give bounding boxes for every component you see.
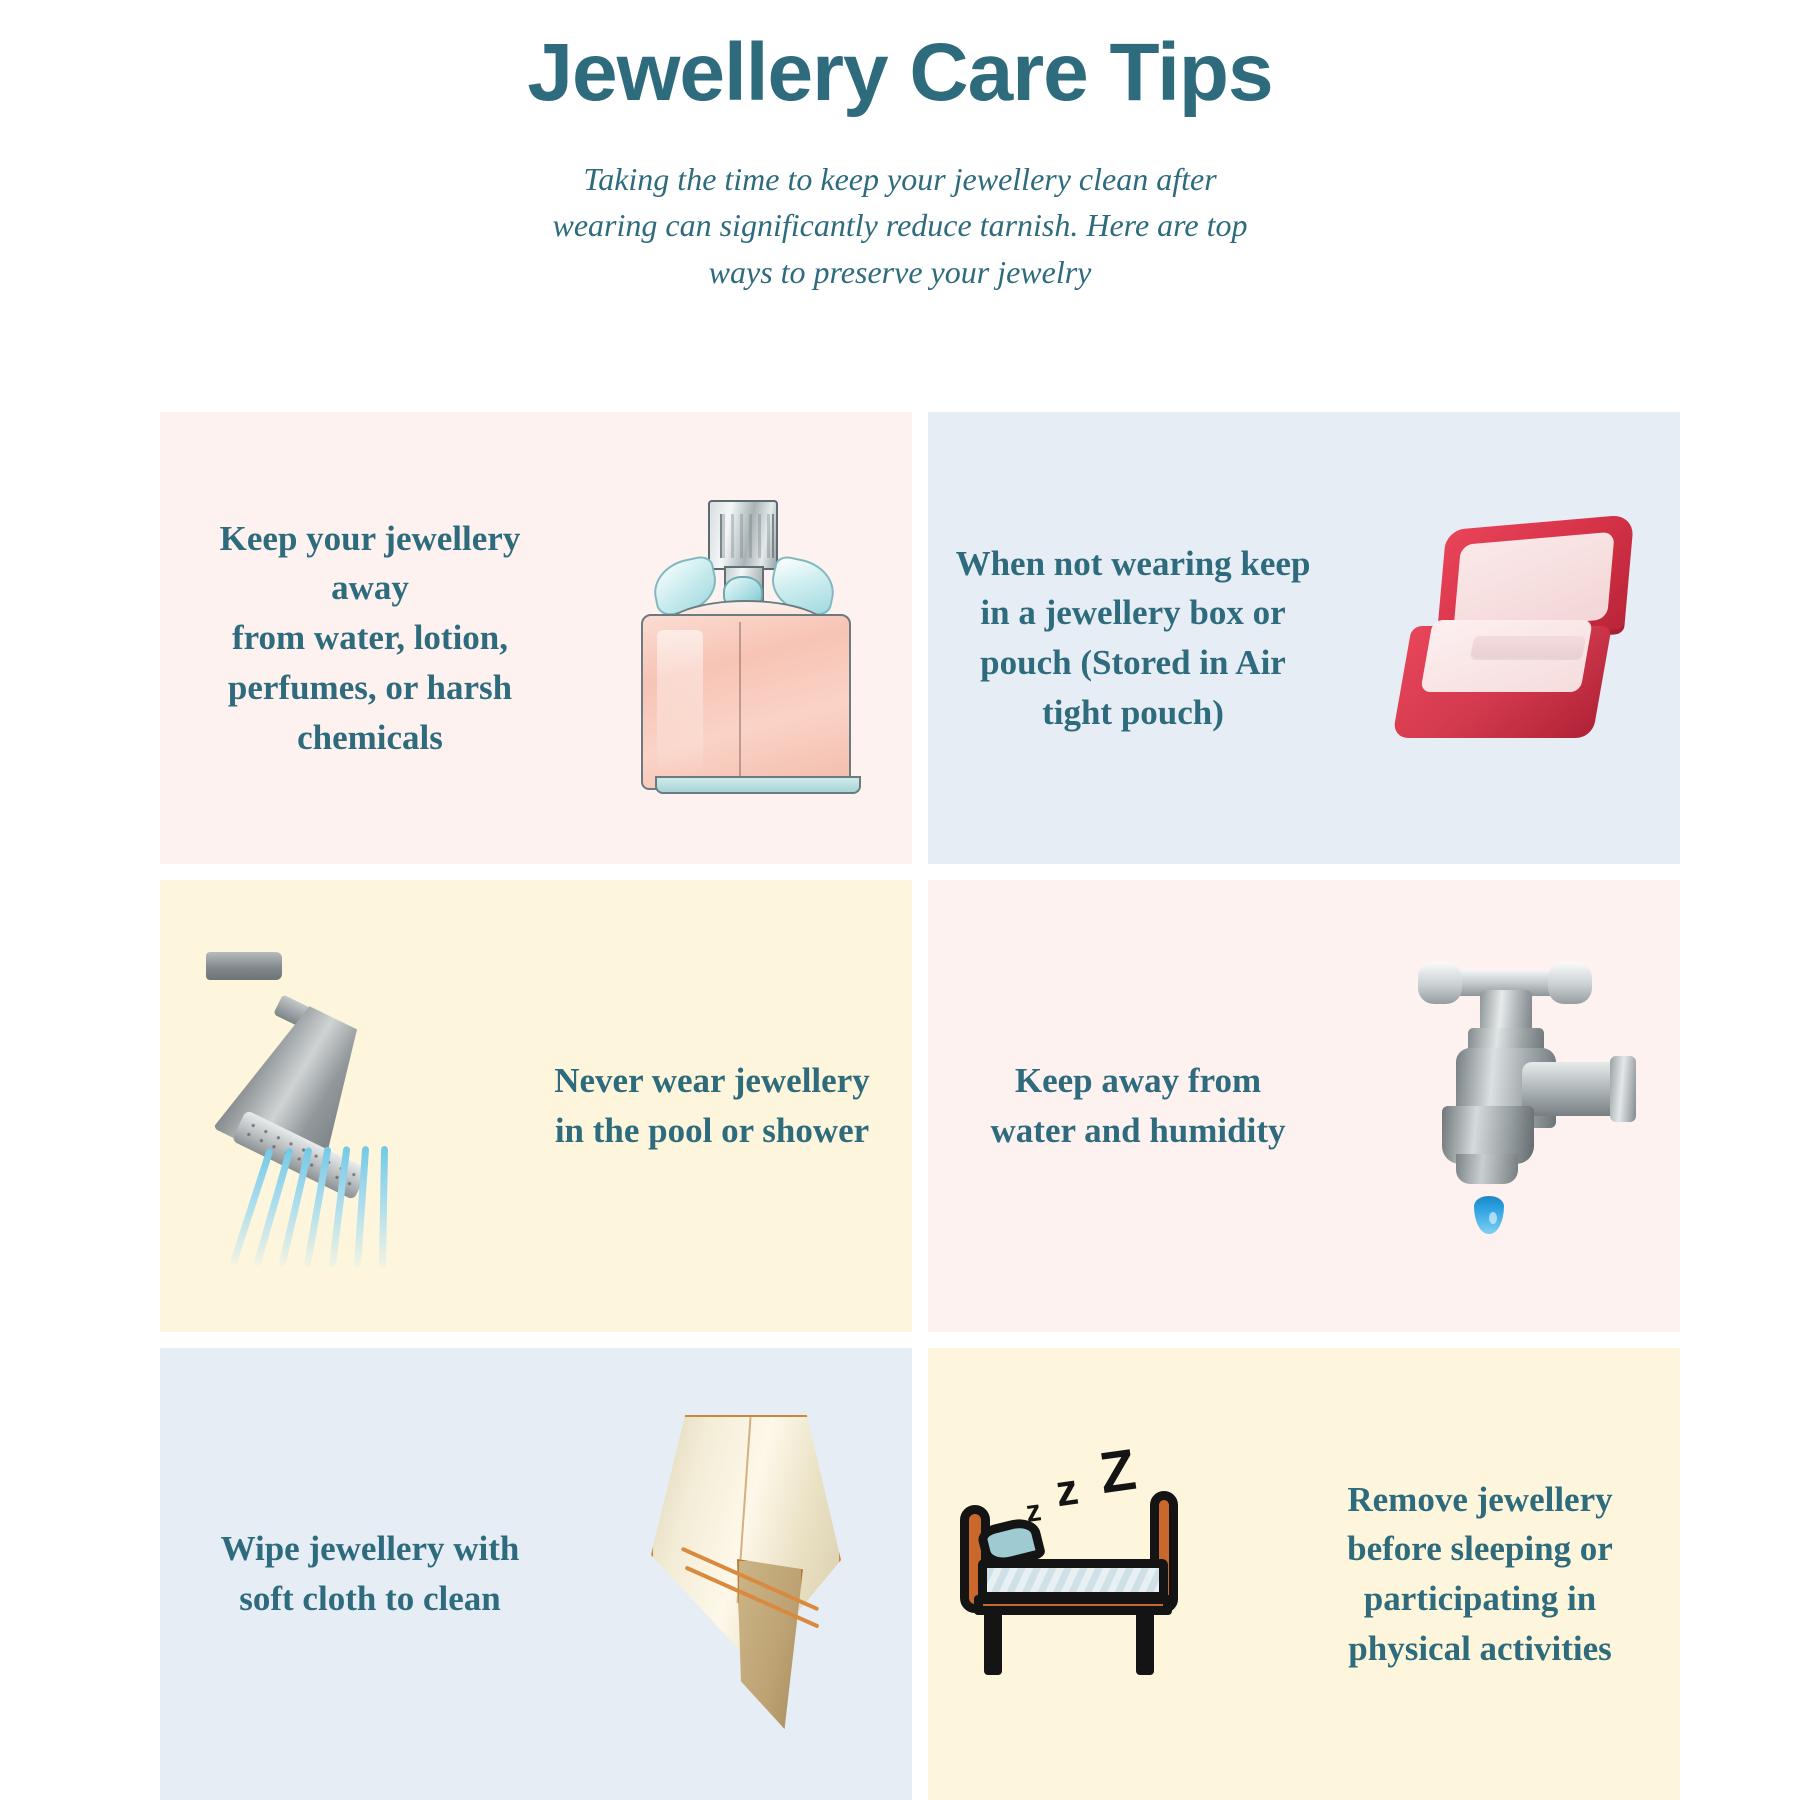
- faucet-icon: [1384, 956, 1644, 1256]
- bed-sleep-icon: z z Z: [954, 1449, 1254, 1699]
- tip-card-chemicals[interactable]: Keep your jewellery away from water, lot…: [160, 412, 912, 864]
- tip-illustration: [580, 1348, 912, 1800]
- tip-illustration: [160, 880, 512, 1332]
- header: Jewellery Care Tips Taking the time to k…: [0, 0, 1800, 295]
- infographic-page: Jewellery Care Tips Taking the time to k…: [0, 0, 1800, 1800]
- zzz-large-icon: Z: [1096, 1441, 1139, 1503]
- page-subtitle: Taking the time to keep your jewellery c…: [500, 156, 1300, 295]
- tip-card-sleep[interactable]: z z Z Remove jewellery before sleeping o…: [928, 1348, 1680, 1800]
- subtitle-line: wearing can significantly reduce tarnish…: [500, 202, 1300, 248]
- tip-illustration: [1348, 880, 1680, 1332]
- cloth-icon: [631, 1409, 861, 1739]
- tip-illustration: [580, 412, 912, 864]
- subtitle-line: ways to preserve your jewelry: [500, 249, 1300, 295]
- perfume-bottle-icon: [631, 488, 861, 788]
- tip-text: When not wearing keep in a jewellery box…: [928, 539, 1338, 738]
- tip-illustration: [1338, 412, 1680, 864]
- page-title: Jewellery Care Tips: [0, 30, 1800, 116]
- tip-card-storage[interactable]: When not wearing keep in a jewellery box…: [928, 412, 1680, 864]
- tip-text: Wipe jewellery with soft cloth to clean: [160, 1524, 580, 1623]
- tip-text: Keep away from water and humidity: [928, 1056, 1348, 1155]
- tip-card-wipe[interactable]: Wipe jewellery with soft cloth to clean: [160, 1348, 912, 1800]
- tip-text: Remove jewellery before sleeping or part…: [1280, 1475, 1680, 1674]
- tip-text: Keep your jewellery away from water, lot…: [160, 514, 580, 762]
- water-drop-icon: [1474, 1196, 1504, 1234]
- subtitle-line: Taking the time to keep your jewellery c…: [500, 156, 1300, 202]
- shower-head-icon: [196, 946, 476, 1266]
- tips-grid: Keep your jewellery away from water, lot…: [160, 412, 1642, 1800]
- tip-card-humidity[interactable]: Keep away from water and humidity: [928, 880, 1680, 1332]
- tip-text: Never wear jewellery in the pool or show…: [512, 1056, 912, 1155]
- tip-illustration: z z Z: [928, 1348, 1280, 1800]
- tip-card-shower[interactable]: Never wear jewellery in the pool or show…: [160, 880, 912, 1332]
- ring-box-icon: [1384, 518, 1634, 758]
- water-spray-icon: [248, 1146, 488, 1276]
- zzz-medium-icon: z: [1053, 1468, 1081, 1515]
